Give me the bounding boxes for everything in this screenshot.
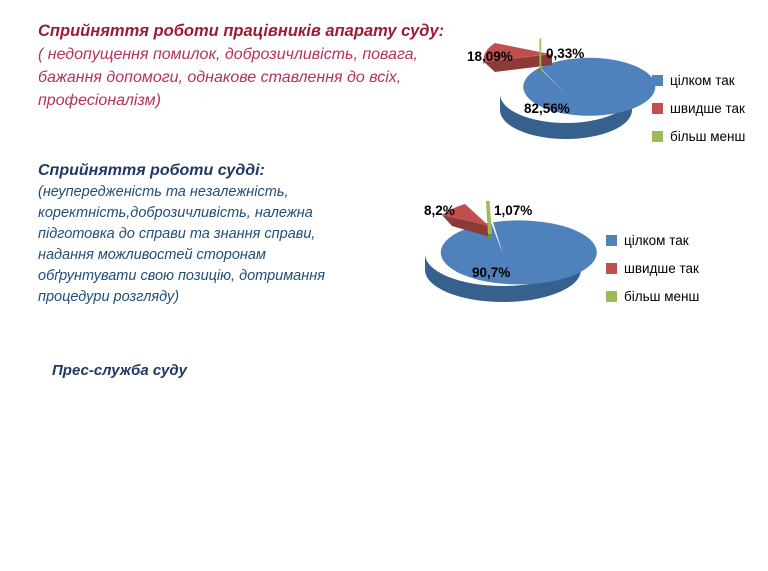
judge-value-label-green: 1,07% bbox=[494, 203, 532, 218]
slice-blue-top-2 bbox=[441, 220, 597, 284]
slice-green-side bbox=[540, 68, 542, 74]
staff-subline-1: ( недопущення помилок, доброзичливість, … bbox=[38, 43, 458, 66]
legend-item-judge-1[interactable]: швидше так bbox=[606, 254, 699, 282]
judge-heading: Сприйняття роботи судді: bbox=[38, 160, 388, 182]
pie-chart-judge-svg: 8,2% 1,07% 90,7% bbox=[410, 192, 610, 324]
legend-item-judge-0[interactable]: цілком так bbox=[606, 226, 699, 254]
judge-value-label-blue: 90,7% bbox=[472, 265, 510, 280]
legend-swatch-blue-icon bbox=[606, 235, 617, 246]
legend-item-staff-1[interactable]: швидше так bbox=[652, 94, 745, 122]
judge-subline-2: коректність,доброзичливість, належна bbox=[38, 203, 388, 224]
staff-value-label-green: 0,33% bbox=[546, 46, 584, 61]
legend-swatch-blue-icon bbox=[652, 75, 663, 86]
judge-subline-3: підготовка до справи та знання справи, bbox=[38, 224, 388, 245]
slice-green-top bbox=[540, 39, 542, 69]
judge-subline-1: (неупередженість та незалежність, bbox=[38, 182, 388, 203]
legend-item-staff-0[interactable]: цілком так bbox=[652, 66, 745, 94]
staff-subline-3: професіоналізм) bbox=[38, 89, 458, 112]
slice-green-side-2 bbox=[488, 234, 492, 240]
staff-value-label-red: 18,09% bbox=[467, 49, 513, 64]
legend-label-judge-1: швидше так bbox=[624, 261, 699, 276]
judge-value-label-red: 8,2% bbox=[424, 203, 455, 218]
legend-swatch-green-icon bbox=[652, 131, 663, 142]
legend-label-staff-0: цілком так bbox=[670, 73, 735, 88]
legend-label-judge-0: цілком так bbox=[624, 233, 689, 248]
legend-swatch-red-icon bbox=[652, 103, 663, 114]
staff-description-block: Сприйняття роботи працівників апарату су… bbox=[38, 20, 458, 112]
judge-subline-5: обґрунтувати свою позицію, дотримання bbox=[38, 266, 388, 287]
judge-description-block: Сприйняття роботи судді: (неупередженіст… bbox=[38, 160, 388, 308]
legend-item-judge-2[interactable]: більш менш bbox=[606, 282, 699, 310]
slide-canvas: Сприйняття роботи працівників апарату су… bbox=[0, 0, 768, 571]
staff-heading: Сприйняття роботи працівників апарату су… bbox=[38, 20, 458, 43]
legend-swatch-green-icon bbox=[606, 291, 617, 302]
legend-label-staff-1: швидше так bbox=[670, 101, 745, 116]
legend-label-judge-2: більш менш bbox=[624, 289, 699, 304]
judge-subline-6: процедури розгляду) bbox=[38, 287, 388, 308]
legend-item-staff-2[interactable]: більш менш bbox=[652, 122, 745, 150]
staff-value-label-blue: 82,56% bbox=[524, 101, 570, 116]
legend-swatch-red-icon bbox=[606, 263, 617, 274]
legend-judge: цілком так швидше так більш менш bbox=[606, 226, 699, 310]
staff-subline-2: бажання допомоги, однакове ставлення до … bbox=[38, 66, 458, 89]
legend-label-staff-2: більш менш bbox=[670, 129, 745, 144]
legend-staff: цілком так швидше так більш менш bbox=[652, 66, 745, 150]
pie-chart-staff-svg: 18,09% 0,33% 82,56% bbox=[462, 18, 672, 150]
press-service-footer: Прес-служба суду bbox=[52, 362, 187, 379]
judge-subline-4: надання можливостей сторонам bbox=[38, 245, 388, 266]
